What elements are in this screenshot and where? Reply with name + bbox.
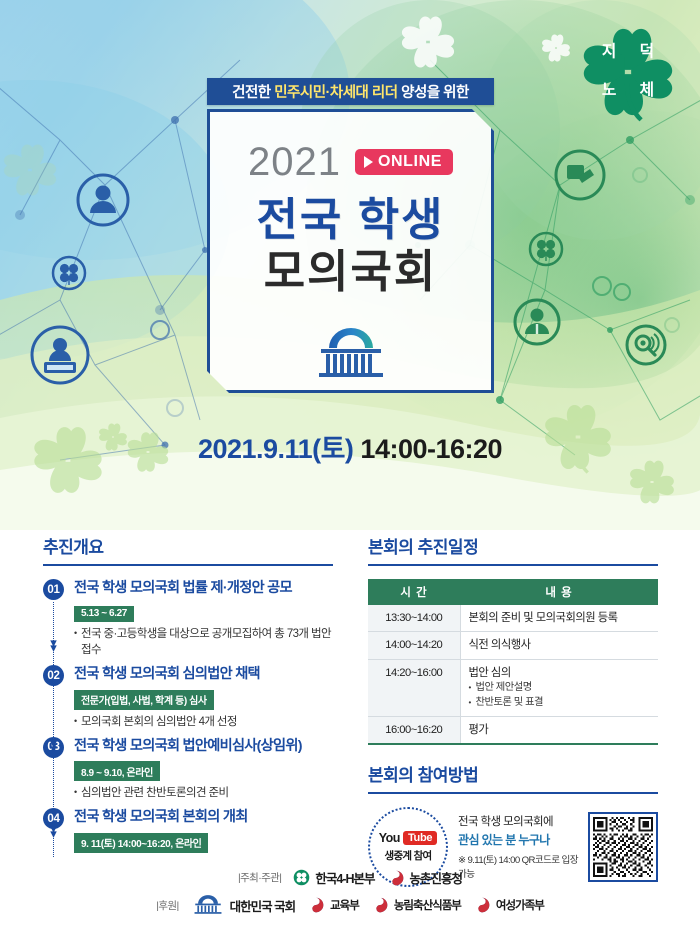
svg-text:체: 체: [640, 81, 654, 99]
sponsor-org: 대한민국 국회: [191, 895, 295, 915]
column-header-content: 내 용: [460, 579, 658, 605]
online-badge: ONLINE: [355, 149, 453, 175]
step-tag: 전문가(입법, 사법, 학계 등) 심사: [74, 690, 214, 710]
overview-step: 02 전국 학생 모의국회 심의법안 채택 전문가(입법, 사법, 학계 등) …: [43, 665, 333, 730]
cell-content-main: 식전 의식행사: [469, 637, 651, 653]
tagline-text: 건전한 민주시민·차세대 리더 양성을 위한: [232, 81, 469, 102]
event-title-line2: 모의국회: [210, 246, 491, 298]
step-bullet: 모의국회 본회의 심의법안 4개 선정: [74, 714, 333, 730]
youtube-tube-text: Tube: [403, 831, 437, 845]
step-title: 전국 학생 모의국회 본회의 개최: [74, 808, 333, 827]
overview-step: 04 전국 학생 모의국회 본회의 개최 9. 11(토) 14:00~16:2…: [43, 808, 333, 856]
event-title: 전국 학생 모의국회: [210, 194, 491, 298]
cell-sub-item: 법안 제안설명: [469, 681, 651, 696]
overview-heading: 추진개요: [43, 533, 333, 558]
cell-content-main: 평가: [469, 722, 651, 738]
sponsor-org: 교육부: [307, 896, 359, 914]
national-assembly-icon: [191, 895, 225, 915]
step-bullet: 전국 중·고등학생을 대상으로 공개모집하여 총 73개 법안 접수: [74, 626, 333, 659]
host-org-name: 한국4-H본부: [315, 868, 374, 887]
step-tag: 8.9 ~ 9.10, 온라인: [74, 761, 160, 781]
youtube-logo: You Tube: [379, 831, 437, 845]
schedule-heading: 본회의 추진일정: [368, 533, 658, 558]
overview-steps: 01 전국 학생 모의국회 법률 제·개정안 공모 5.13 ~ 6.27 전국…: [43, 579, 333, 857]
svg-text:노: 노: [602, 82, 616, 99]
overview-step: 03 전국 학생 모의국회 법안예비심사(상임위) 8.9 ~ 9.10, 온라…: [43, 737, 333, 802]
event-date: 2021.9.11(토): [198, 434, 353, 464]
taegeuk-icon: [387, 869, 405, 887]
event-time: 14:00-16:20: [360, 434, 502, 464]
host-label: |주최·주관|: [238, 870, 281, 885]
title-box: 2021 ONLINE 전국 학생 모의국회: [207, 109, 494, 393]
taegeuk-icon: [371, 896, 389, 914]
sponsor-label: |후원|: [156, 898, 178, 913]
overview-rule: [43, 564, 333, 566]
step-tag: 5.13 ~ 6.27: [74, 606, 134, 622]
online-badge-label: ONLINE: [378, 154, 442, 170]
join-line2: 관심 있는 분 누구나: [458, 831, 578, 849]
taegeuk-icon: [473, 896, 491, 914]
cell-sub-item: 찬반토론 및 표결: [469, 696, 651, 711]
tagline-part1: 건전한: [232, 85, 274, 101]
step-title: 전국 학생 모의국회 법안예비심사(상임위): [74, 737, 333, 756]
table-header-row: 시 간 내 용: [368, 579, 658, 605]
play-icon: [364, 156, 373, 168]
table-row: 13:30~14:00 본회의 준비 및 모의국회의원 등록: [368, 605, 658, 632]
join-heading: 본회의 참여방법: [368, 761, 658, 786]
step-bullets: 모의국회 본회의 심의법안 4개 선정: [74, 714, 333, 730]
taegeuk-icon: [307, 896, 325, 914]
cell-time: 14:20~16:00: [368, 659, 460, 716]
tagline-part2: 양성을 위한: [398, 85, 469, 101]
host-org: 농촌진흥청: [387, 868, 463, 887]
event-datetime: 2021.9.11(토) 14:00-16:20: [0, 427, 700, 466]
host-org: 한국4-H본부: [293, 868, 374, 887]
cell-content-main: 본회의 준비 및 모의국회의원 등록: [469, 610, 651, 626]
national-assembly-emblem-icon: [311, 324, 391, 382]
cell-time: 14:00~14:20: [368, 632, 460, 659]
chevron-down-icon: ▾: [46, 742, 61, 757]
sponsor-row: |후원| 대한민국 국회: [0, 895, 700, 915]
event-year: 2021: [248, 142, 341, 182]
cell-content: 평가: [460, 716, 658, 744]
sponsor-org-name: 여성가족부: [496, 897, 544, 913]
sponsor-org-name: 교육부: [330, 897, 359, 913]
overview-section: 추진개요 01 전국 학생 모의국회 법률 제·개정안 공모 5.13 ~ 6.…: [43, 533, 333, 864]
cell-content: 식전 의식행사: [460, 632, 658, 659]
tagline-ribbon: 건전한 민주시민·차세대 리더 양성을 위한: [207, 78, 494, 105]
sponsor-org-name: 농림축산식품부: [394, 897, 461, 913]
cell-content: 법안 심의 법안 제안설명 찬반토론 및 표결: [460, 659, 658, 716]
schedule-table: 시 간 내 용 13:30~14:00 본회의 준비 및 모의국회의원 등록 1…: [368, 579, 658, 745]
cell-time: 13:30~14:00: [368, 605, 460, 632]
cell-content: 본회의 준비 및 모의국회의원 등록: [460, 605, 658, 632]
step-number: 02: [43, 665, 64, 686]
event-title-line1: 전국 학생: [210, 194, 491, 246]
cell-time: 16:00~16:20: [368, 716, 460, 744]
footer: |주최·주관| 한국4-H본부 농촌진흥청: [0, 868, 700, 923]
column-header-time: 시 간: [368, 579, 460, 605]
sponsor-org: 여성가족부: [473, 896, 544, 914]
youtube-you-text: You: [379, 831, 400, 845]
4h-clover-icon: [293, 869, 310, 886]
host-org-name: 농촌진흥청: [410, 868, 463, 887]
svg-text:덕: 덕: [640, 42, 654, 60]
tagline-highlight: 민주시민·차세대 리더: [274, 85, 397, 101]
step-bullets: 전국 중·고등학생을 대상으로 공개모집하여 총 73개 법안 접수: [74, 626, 333, 659]
schedule-rule: [368, 564, 658, 566]
title-year-row: 2021 ONLINE: [210, 142, 491, 182]
step-bullets: 심의법안 관련 찬반토론의견 준비: [74, 785, 333, 801]
table-row: 16:00~16:20 평가: [368, 716, 658, 744]
step-bullet: 심의법안 관련 찬반토론의견 준비: [74, 785, 333, 801]
sponsor-org-name: 대한민국 국회: [230, 896, 295, 915]
join-line1: 전국 학생 모의국회에: [458, 814, 578, 831]
step-title: 전국 학생 모의국회 법률 제·개정안 공모: [74, 579, 333, 598]
join-rule: [368, 792, 658, 794]
chevron-down-icon: ▾: [46, 827, 61, 842]
schedule-section: 본회의 추진일정 시 간 내 용 13:30~14:00 본회의 준비 및 모의…: [368, 533, 658, 887]
cell-content-main: 법안 심의: [469, 665, 651, 681]
youtube-caption: 생중계 참여: [384, 848, 431, 863]
poster: 지덕 노체: [0, 0, 700, 933]
table-row: 14:00~14:20 식전 의식행사: [368, 632, 658, 659]
step-number: 01: [43, 579, 64, 600]
table-row: 14:20~16:00 법안 심의 법안 제안설명 찬반토론 및 표결: [368, 659, 658, 716]
overview-step: 01 전국 학생 모의국회 법률 제·개정안 공모 5.13 ~ 6.27 전국…: [43, 579, 333, 658]
chevron-down-icon: ▾: [46, 641, 61, 656]
svg-text:지: 지: [602, 42, 616, 60]
sponsor-org: 농림축산식품부: [371, 896, 461, 914]
step-title: 전국 학생 모의국회 심의법안 채택: [74, 665, 333, 684]
step-tag: 9. 11(토) 14:00~16:20, 온라인: [74, 833, 208, 853]
host-row: |주최·주관| 한국4-H본부 농촌진흥청: [0, 868, 700, 887]
